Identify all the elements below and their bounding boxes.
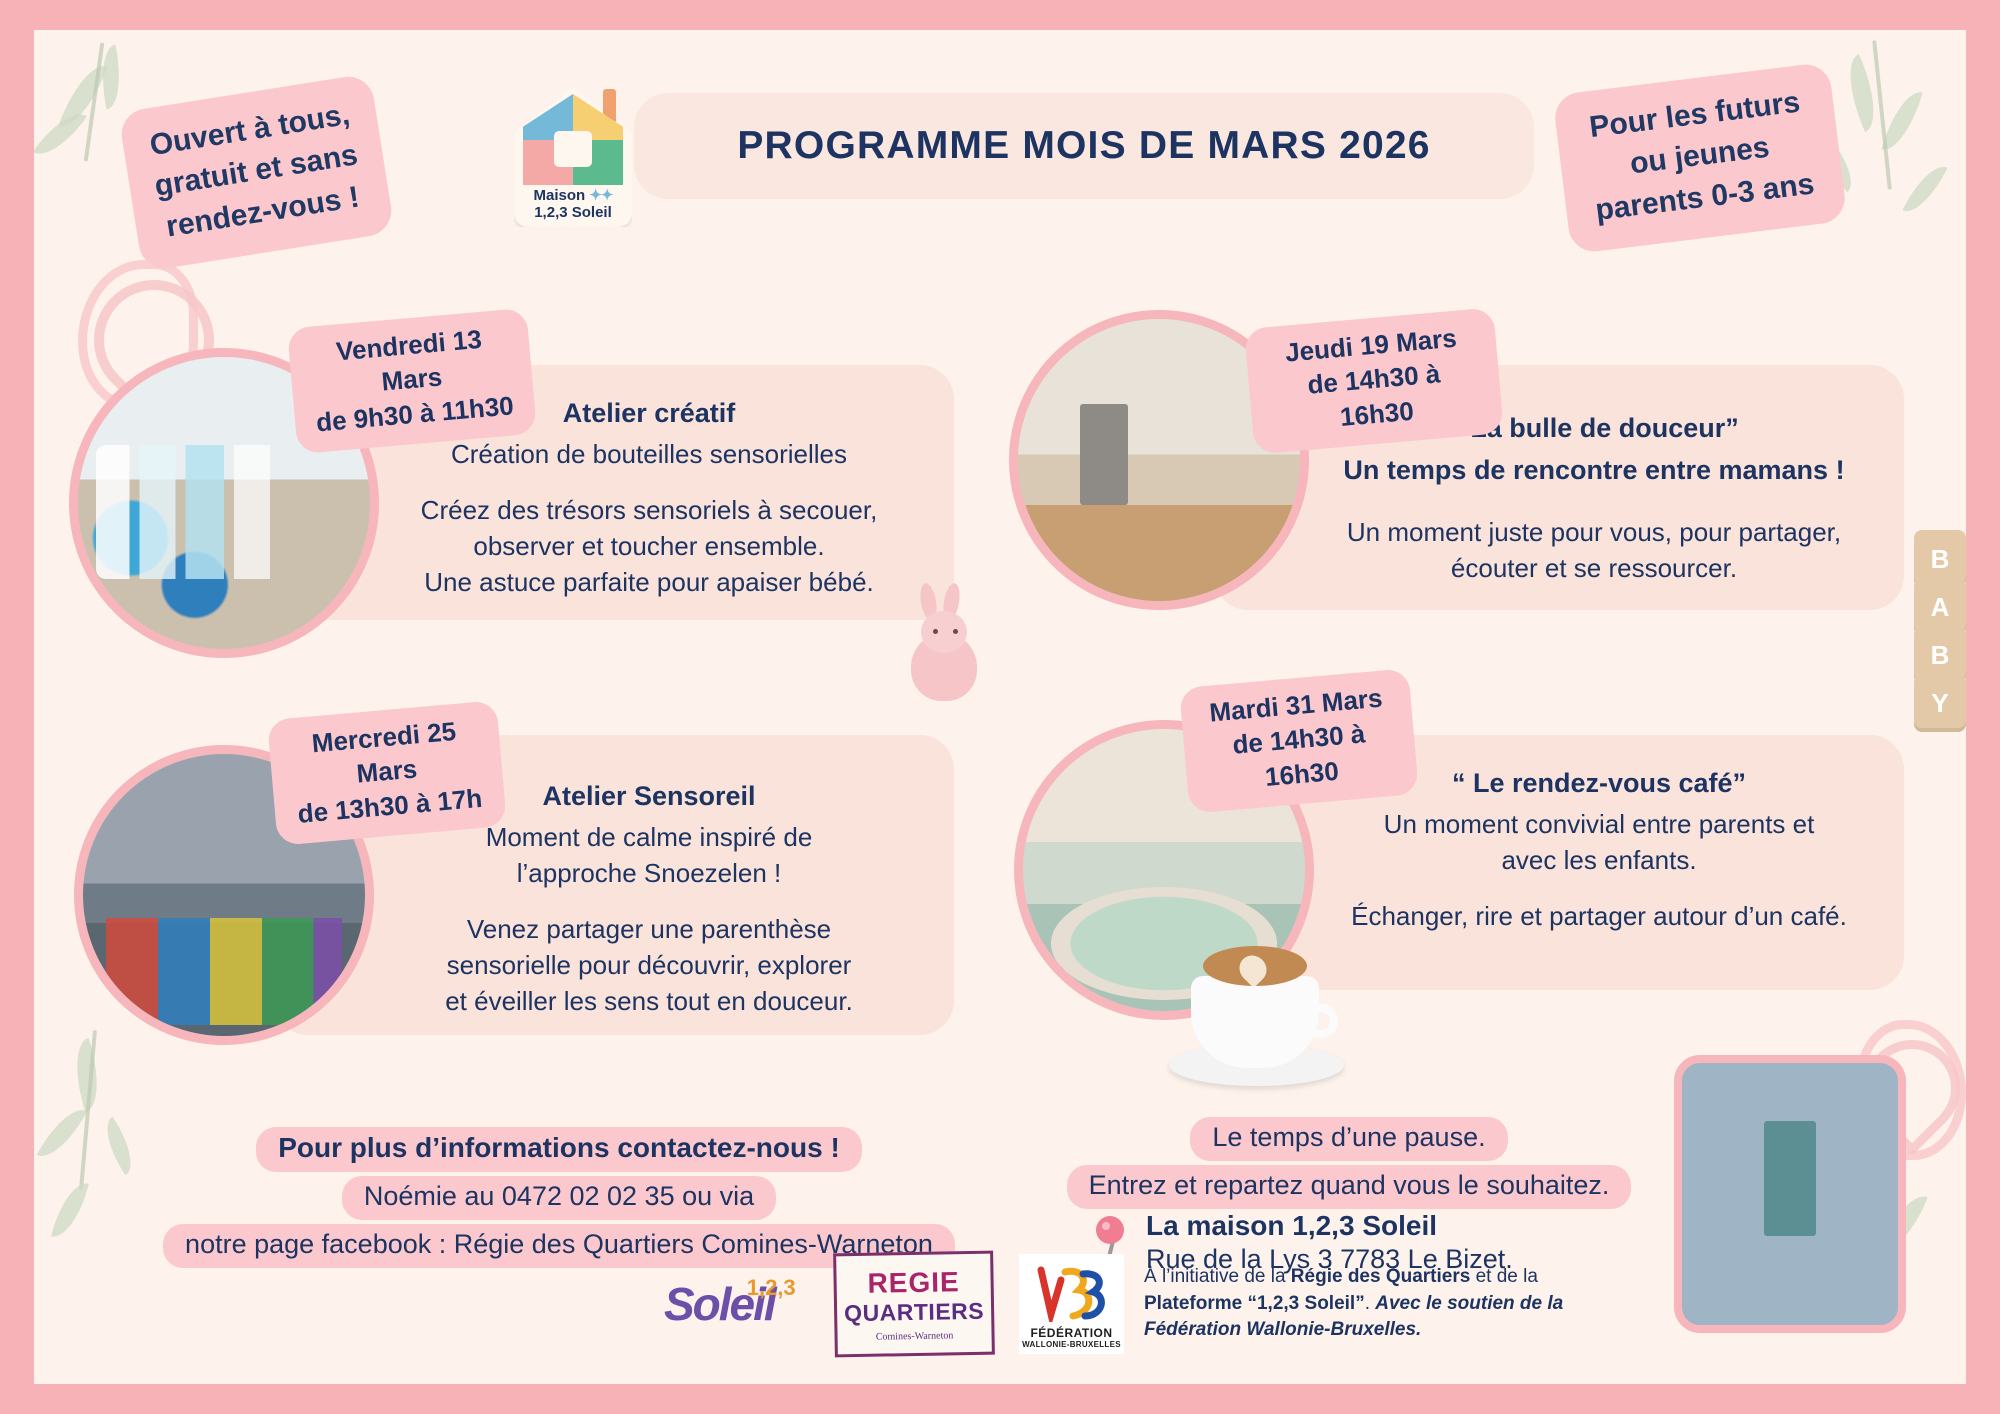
event-2-subtitle: Un temps de rencontre entre mamans ! — [1289, 452, 1899, 488]
credit-plateforme: Plateforme “1,2,3 Soleil” — [1144, 1293, 1365, 1314]
credit-part-c: et de la — [1470, 1266, 1538, 1287]
pause-line-1: Le temps d’une pause. — [1190, 1117, 1507, 1161]
event-2-body: Un moment juste pour vous, pour partager… — [1289, 515, 1899, 587]
contact-heading: Pour plus d’informations contactez-nous … — [256, 1127, 862, 1172]
fwb-mark-icon — [1035, 1266, 1109, 1322]
logo-regie-sub: Comines-Warneton — [876, 1330, 954, 1342]
fwb-line1: FÉDÉRATION — [1030, 1326, 1112, 1340]
logo-soleil-123: 1,2,3 — [747, 1275, 796, 1301]
pause-line-2: Entrez et repartez quand vous le souhait… — [1067, 1165, 1632, 1209]
logo-federation-wallonie-bruxelles: FÉDÉRATION WALLONIE-BRUXELLES — [1019, 1254, 1124, 1354]
bunny-plush-decor — [889, 585, 999, 705]
badge-open-to-all: Ouvert à tous, gratuit et sans rendez-vo… — [118, 73, 395, 272]
page-title-text: PROGRAMME MOIS DE MARS 2026 — [737, 124, 1430, 168]
event-card-3-date-badge: Mercredi 25 Mars de 13h30 à 17h — [267, 700, 507, 846]
footer: Soleil 1,2,3 REGIE QUARTIERS Comines-War… — [34, 1248, 1966, 1368]
poster-root: Ouvert à tous, gratuit et sans rendez-vo… — [0, 0, 2000, 1414]
credit-text: À l’initiative de la Régie des Quartiers… — [1144, 1264, 1614, 1344]
logo-line-2: 1,2,3 Soleil — [514, 205, 632, 222]
event-4-subtitle: Un moment convivial entre parents et ave… — [1294, 807, 1904, 879]
fwb-line2: WALLONIE-BRUXELLES — [1022, 1340, 1121, 1349]
logo-line-1: Maison — [534, 187, 586, 204]
credit-regie: Régie des Quartiers — [1291, 1266, 1471, 1287]
pause-block: Le temps d’une pause. Entrez et repartez… — [999, 1115, 1699, 1211]
logo-wordmark: Maison ✦✦ 1,2,3 Soleil — [514, 188, 632, 222]
logo-regie-des-quartiers: REGIE QUARTIERS Comines-Warneton — [833, 1251, 995, 1358]
contact-phone-line: Noémie au 0472 02 02 35 ou via — [342, 1176, 776, 1220]
logo-puzzle-piece-icon — [554, 131, 592, 167]
poster-canvas: Ouvert à tous, gratuit et sans rendez-vo… — [34, 30, 1966, 1384]
badge-target-audience: Pour les futurs ou jeunes parents 0-3 an… — [1552, 62, 1847, 255]
credit-part-d: . — [1365, 1293, 1376, 1314]
badge-target-audience-text: Pour les futurs ou jeunes parents 0-3 an… — [1588, 86, 1816, 227]
address-name: La maison 1,2,3 Soleil — [1146, 1210, 1513, 1242]
brand-logo: Maison ✦✦ 1,2,3 Soleil — [514, 87, 632, 227]
logo-soleil: Soleil 1,2,3 — [664, 1262, 829, 1346]
event-card-1-date-badge: Vendredi 13 Mars de 9h30 à 11h30 — [287, 308, 537, 454]
badge-open-to-all-text: Ouvert à tous, gratuit et sans rendez-vo… — [148, 98, 362, 243]
event-3-body: Venez partager une parenthèse sensoriell… — [354, 912, 944, 1020]
event-4-body: Échanger, rire et partager autour d’un c… — [1294, 899, 1904, 935]
puzzle-pieces-icon: ✦✦ — [589, 187, 612, 204]
baby-blocks-decor: B A B Y — [1914, 530, 1966, 720]
event-card-2-date-badge: Jeudi 19 Mars de 14h30 à 16h30 — [1244, 307, 1504, 454]
logo-regie-line1: REGIE — [867, 1266, 960, 1300]
event-card-4-date-badge: Mardi 31 Mars de 14h30 à 16h30 — [1179, 668, 1419, 814]
event-1-body: Créez des trésors sensoriels à secouer, … — [354, 493, 944, 601]
event-1-subtitle: Création de bouteilles sensorielles — [354, 437, 944, 473]
baby-block-y: Y — [1914, 674, 1966, 732]
page-title: PROGRAMME MOIS DE MARS 2026 — [634, 93, 1534, 199]
credit-part-a: À l’initiative de la — [1144, 1266, 1291, 1287]
coffee-cup-decor — [1169, 940, 1344, 1090]
logo-regie-line2: QUARTIERS — [844, 1297, 984, 1326]
